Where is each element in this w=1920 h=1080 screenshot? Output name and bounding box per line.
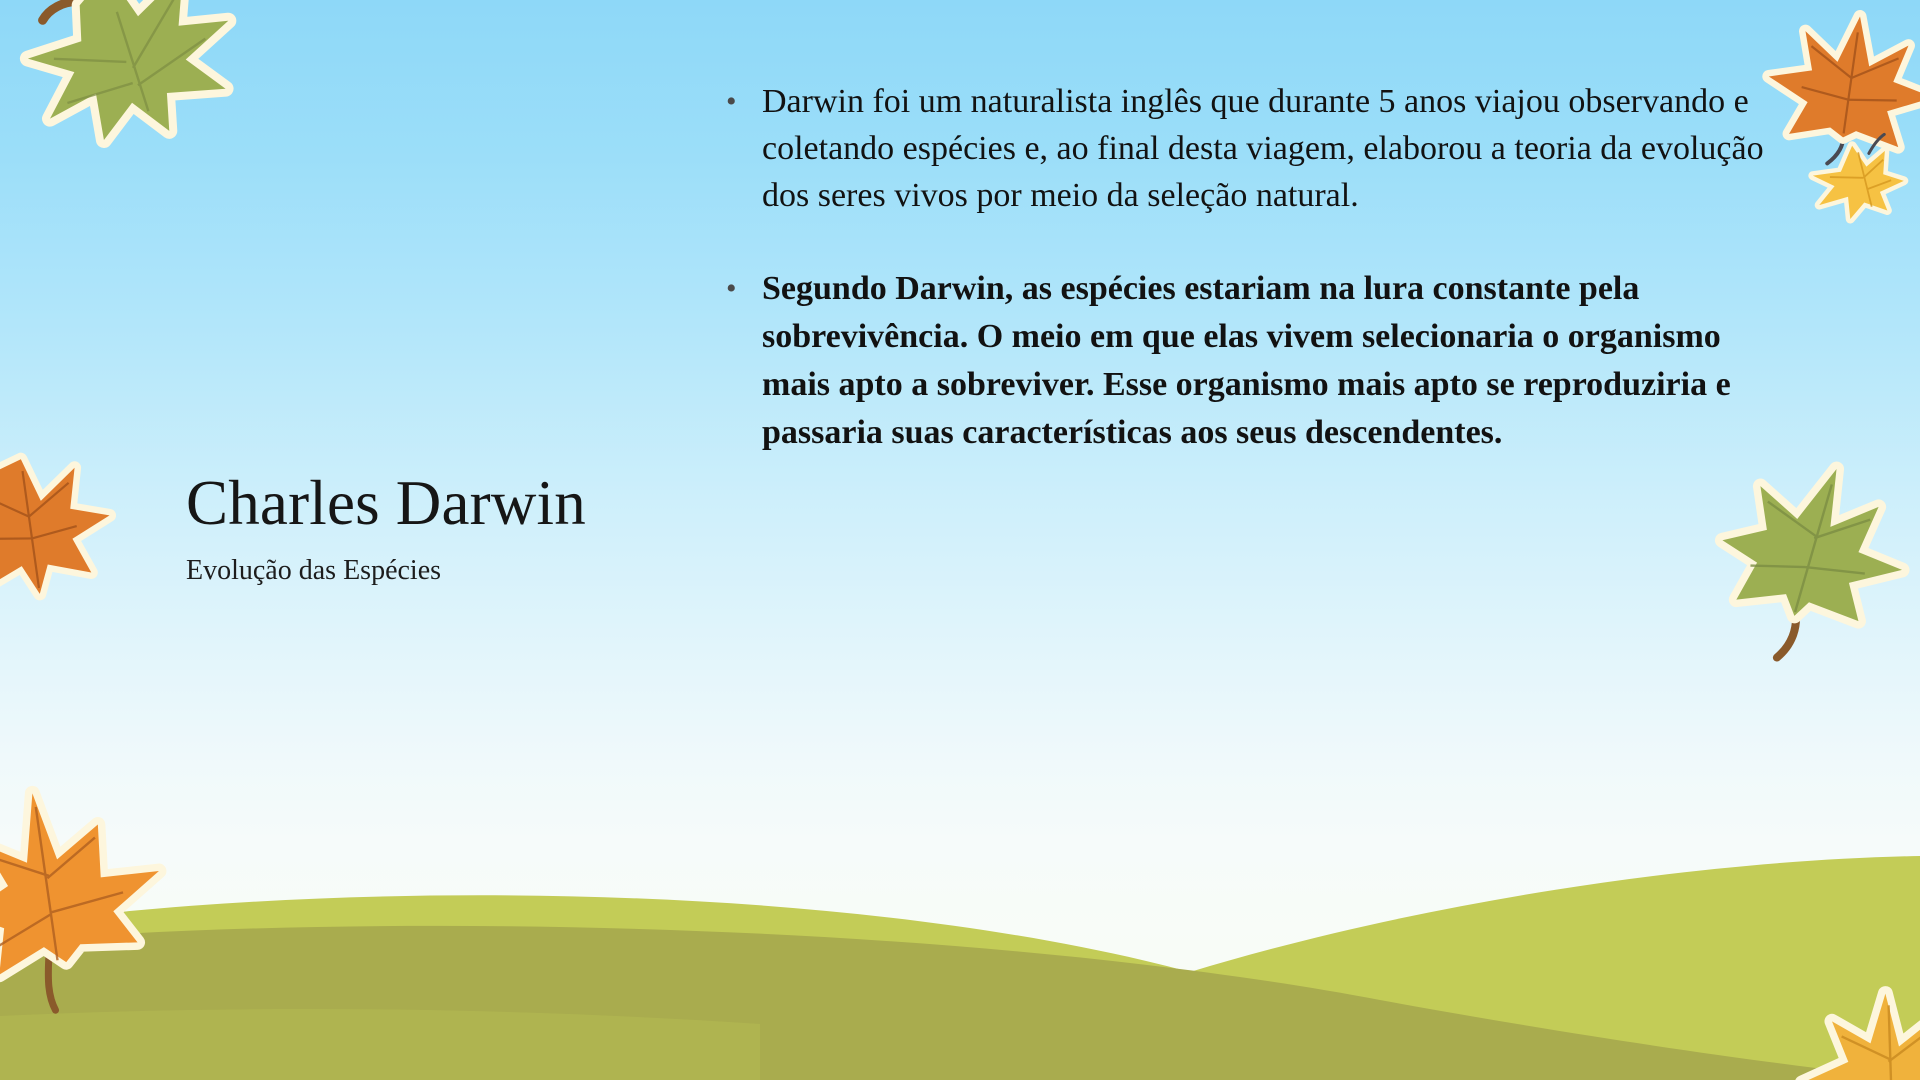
title-placeholder: Charles Darwin Evolução das Espécies xyxy=(186,470,706,588)
bullet-marker-icon: • xyxy=(726,78,762,126)
leaf-green-mid-right-icon xyxy=(1698,437,1920,687)
page-title: Charles Darwin xyxy=(186,470,706,536)
bullet-text: Segundo Darwin, as espécies estariam na … xyxy=(762,265,1772,457)
leaf-orange-mid-left-icon xyxy=(0,434,124,615)
bullet-item: • Darwin foi um naturalista inglês que d… xyxy=(726,78,1772,219)
hill-dark-front xyxy=(0,884,1920,1080)
content-placeholder: • Darwin foi um naturalista inglês que d… xyxy=(726,78,1772,457)
bullet-marker-icon: • xyxy=(726,265,762,313)
bullet-item: • Segundo Darwin, as espécies estariam n… xyxy=(726,265,1772,457)
bullet-text: Darwin foi um naturalista inglês que dur… xyxy=(762,78,1772,219)
leaf-green-top-left-icon xyxy=(0,0,265,183)
page-subtitle: Evolução das Espécies xyxy=(186,554,706,588)
presentation-slide: Charles Darwin Evolução das Espécies • D… xyxy=(0,0,1920,1080)
